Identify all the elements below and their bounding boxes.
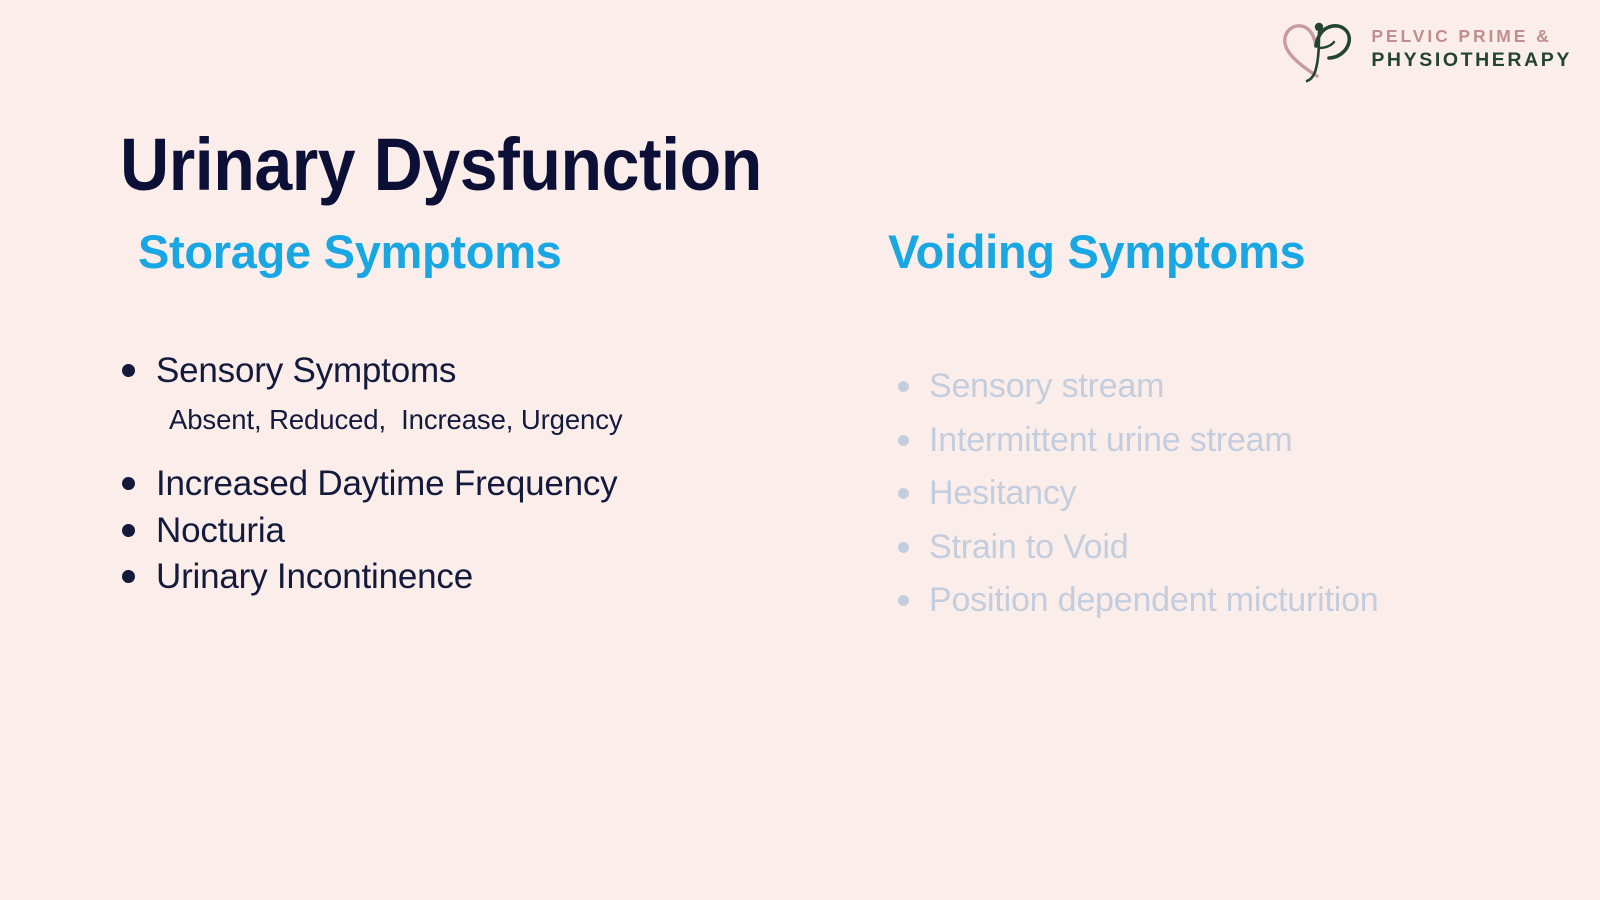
slide-canvas: PELVIC PRIME & PHYSIOTHERAPY Urinary Dys… xyxy=(0,0,1600,900)
list-item-label: Hesitancy xyxy=(929,472,1076,515)
voiding-symptoms-list: Sensory stream Intermittent urine stream… xyxy=(880,365,1580,622)
bullet-dot-icon xyxy=(122,477,135,490)
list-item-label: Nocturia xyxy=(156,509,285,554)
brand-logo: PELVIC PRIME & PHYSIOTHERAPY xyxy=(1279,14,1572,84)
list-item-label: Strain to Void xyxy=(929,526,1128,569)
list-item-label: Sensory Symptoms xyxy=(156,349,456,394)
bullet-dot-icon xyxy=(122,524,135,537)
brand-logo-text: PELVIC PRIME & PHYSIOTHERAPY xyxy=(1371,25,1572,72)
bullet-dot-icon xyxy=(898,381,909,392)
list-item: Strain to Void xyxy=(880,526,1580,569)
bullet-dot-icon xyxy=(898,542,909,553)
list-item-label: Urinary Incontinence xyxy=(156,555,473,600)
voiding-symptoms-heading: Voiding Symptoms xyxy=(888,228,1580,275)
brand-line-1: PELVIC PRIME & xyxy=(1371,25,1572,47)
list-item: Nocturia xyxy=(120,509,840,554)
list-item-sublabel: Absent, Reduced, Increase, Urgency xyxy=(169,404,840,436)
storage-symptoms-heading: Storage Symptoms xyxy=(138,228,840,275)
bullet-dot-icon xyxy=(898,488,909,499)
list-item-label: Sensory stream xyxy=(929,365,1164,408)
list-item-label: Intermittent urine stream xyxy=(929,419,1292,462)
list-item: Position dependent micturition xyxy=(880,579,1580,622)
bullet-dot-icon xyxy=(898,595,909,606)
brand-line-2: PHYSIOTHERAPY xyxy=(1371,48,1572,73)
column-voiding-symptoms: Voiding Symptoms Sensory stream Intermit… xyxy=(880,228,1580,633)
column-storage-symptoms: Storage Symptoms Sensory Symptoms Absent… xyxy=(120,228,840,602)
bullet-dot-icon xyxy=(122,570,135,583)
list-item: Intermittent urine stream xyxy=(880,419,1580,462)
storage-symptoms-list: Sensory Symptoms Absent, Reduced, Increa… xyxy=(120,349,840,600)
bullet-dot-icon xyxy=(898,435,909,446)
list-item: Increased Daytime Frequency xyxy=(120,462,840,507)
list-item: Sensory Symptoms xyxy=(120,349,840,394)
list-item-label: Position dependent micturition xyxy=(929,579,1379,622)
list-item: Hesitancy xyxy=(880,472,1580,515)
slide-title: Urinary Dysfunction xyxy=(120,128,762,202)
list-item-label: Increased Daytime Frequency xyxy=(156,462,617,507)
pelvic-prime-heart-logo-icon xyxy=(1279,14,1357,84)
list-item: Urinary Incontinence xyxy=(120,555,840,600)
bullet-dot-icon xyxy=(122,364,135,377)
list-item: Sensory stream xyxy=(880,365,1580,408)
